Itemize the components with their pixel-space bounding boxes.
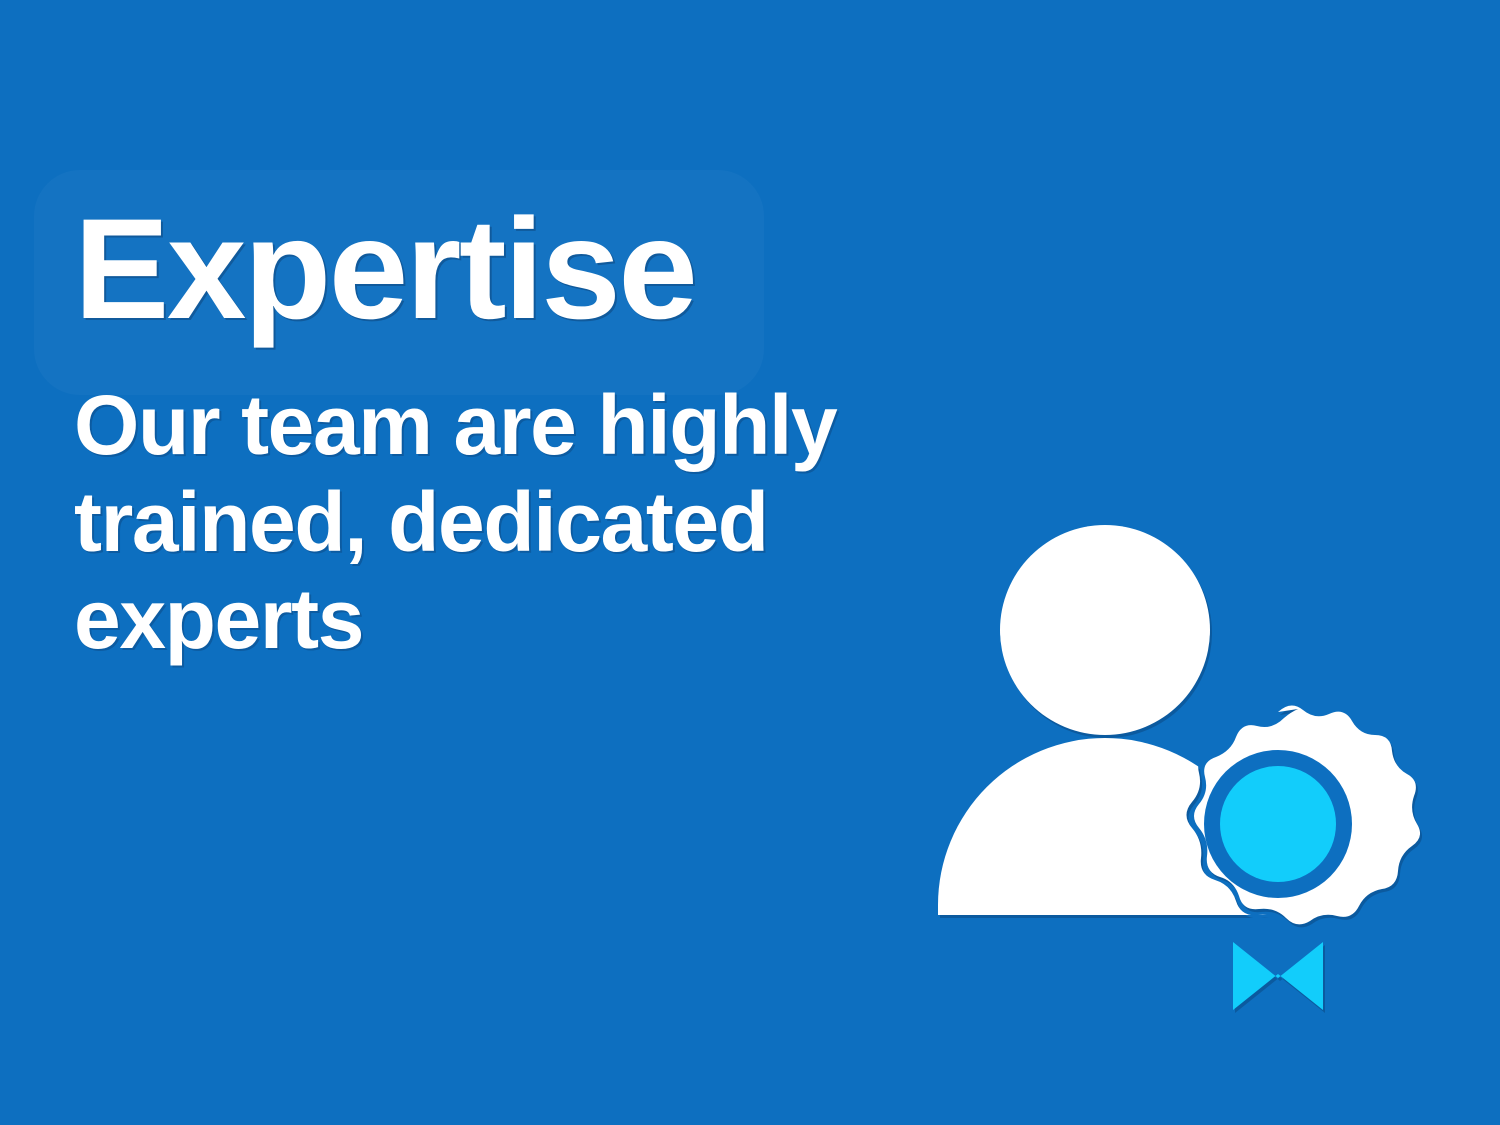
slide-canvas: Expertise Our team are highly trained, d… <box>0 0 1500 1125</box>
page-title: Expertise <box>74 198 944 341</box>
page-subtitle: Our team are highly trained, dedicated e… <box>74 341 874 668</box>
award-ribbon <box>1233 942 1323 1010</box>
award-rosette-center <box>1220 766 1336 882</box>
slide-text-block: Expertise Our team are highly trained, d… <box>74 198 944 668</box>
certified-expert-icon <box>900 490 1420 1050</box>
person-head-circle <box>1000 525 1210 735</box>
